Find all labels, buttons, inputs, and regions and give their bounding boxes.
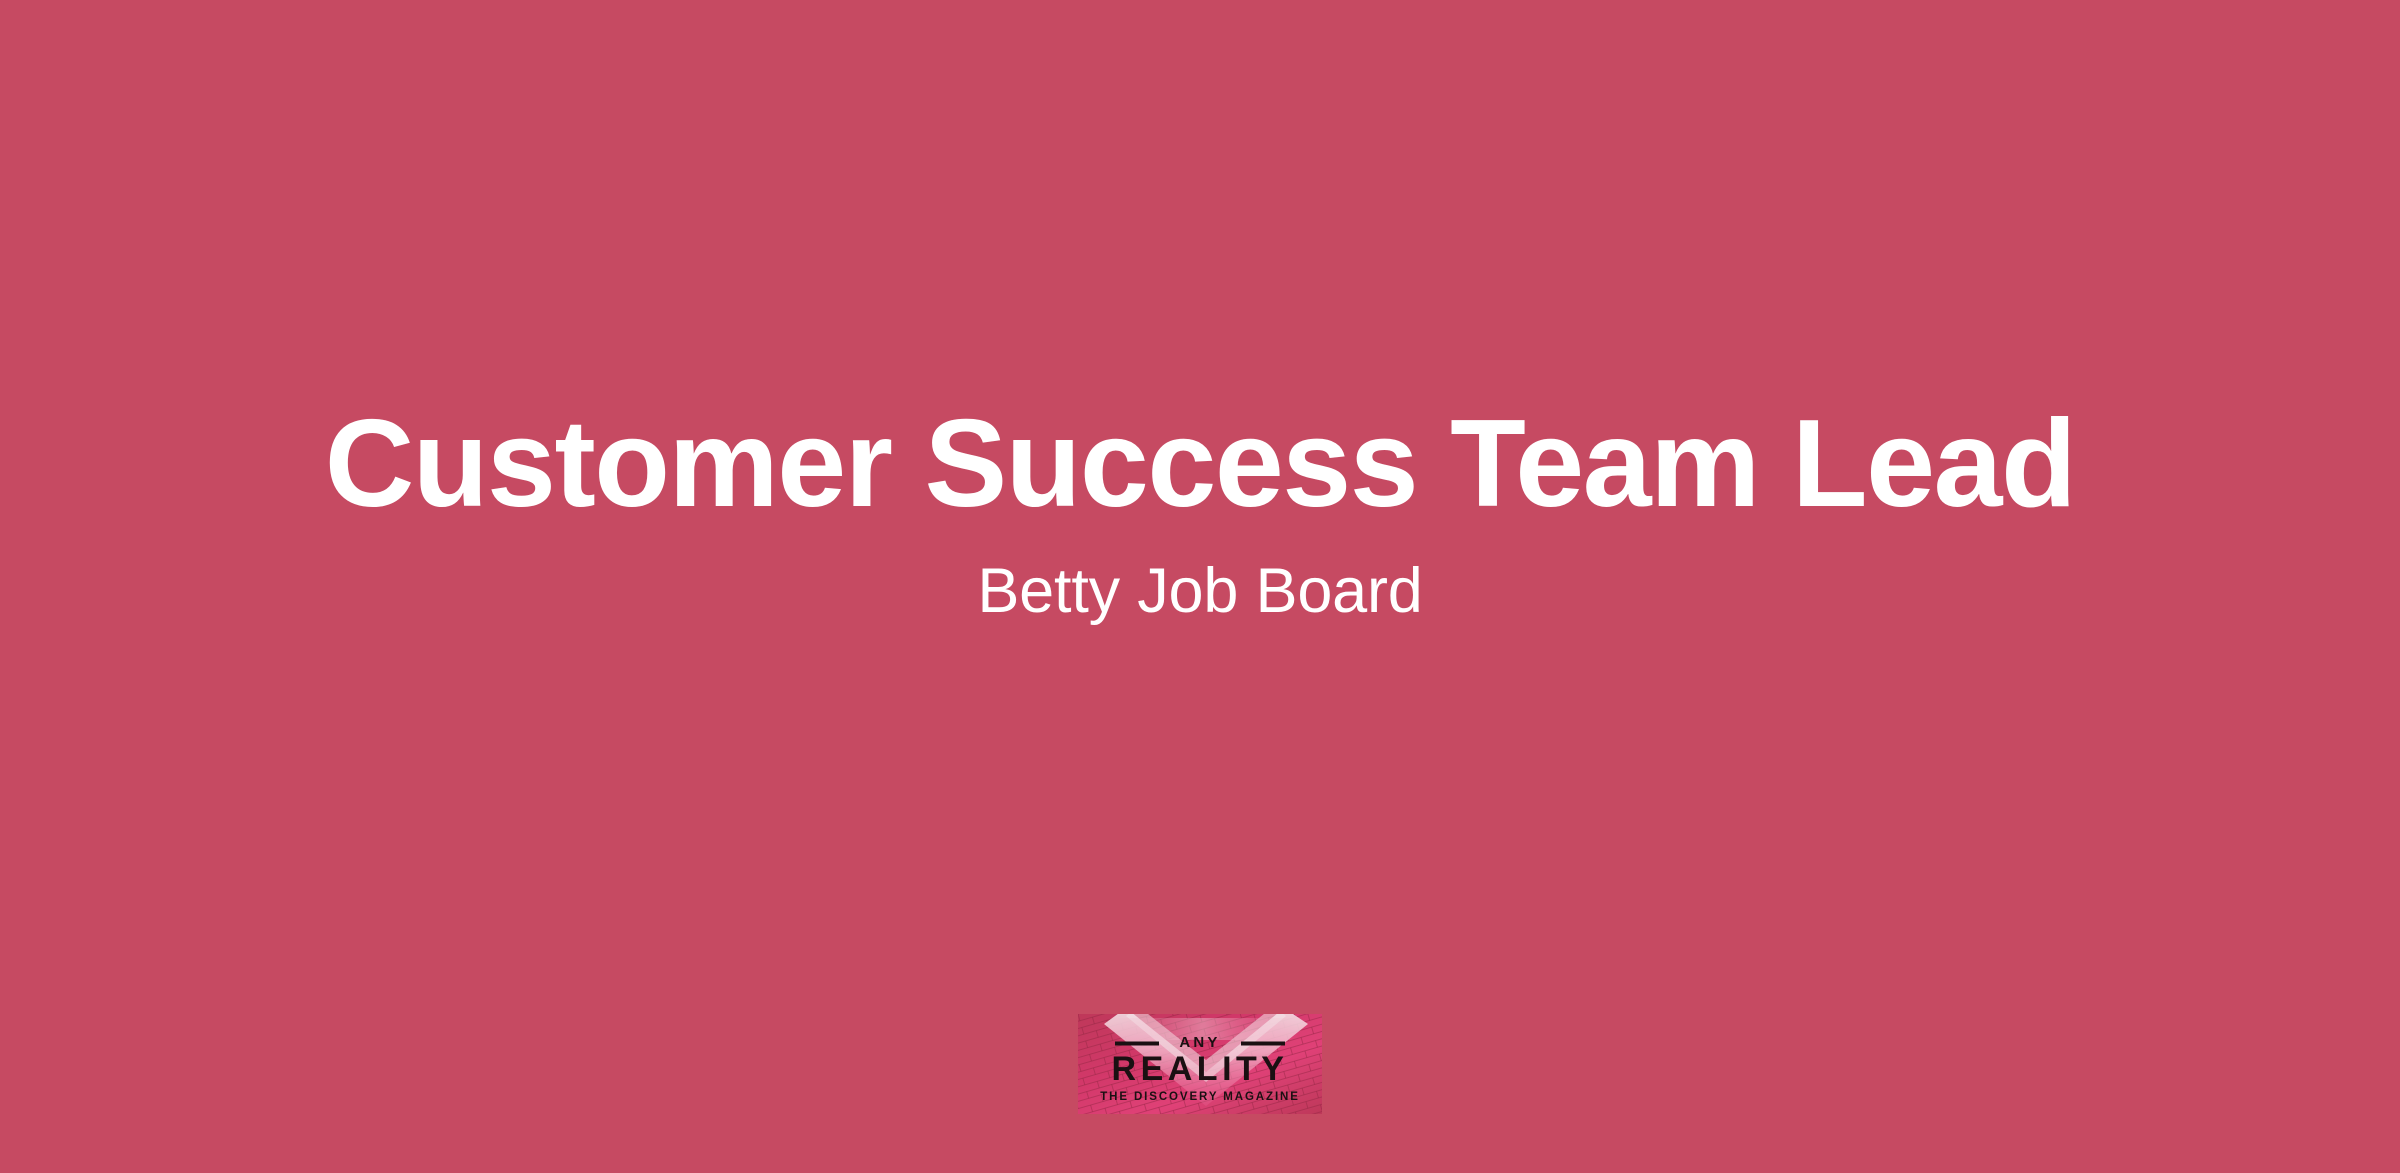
svg-text:REALITY: REALITY <box>1112 1050 1289 1088</box>
footer-logo-container: ANY REALITY THE DISCOVERY MAGAZINE <box>1078 1014 1322 1114</box>
page-subtitle: Betty Job Board <box>0 554 2400 630</box>
any-reality-logo: ANY REALITY THE DISCOVERY MAGAZINE <box>1078 1014 1322 1114</box>
page-title: Customer Success Team Lead <box>0 398 2400 532</box>
title-slide: Customer Success Team Lead Betty Job Boa… <box>0 0 2400 1173</box>
svg-text:ANY: ANY <box>1179 1034 1220 1051</box>
title-block: Customer Success Team Lead Betty Job Boa… <box>0 0 2400 630</box>
svg-text:THE DISCOVERY MAGAZINE: THE DISCOVERY MAGAZINE <box>1100 1091 1300 1103</box>
